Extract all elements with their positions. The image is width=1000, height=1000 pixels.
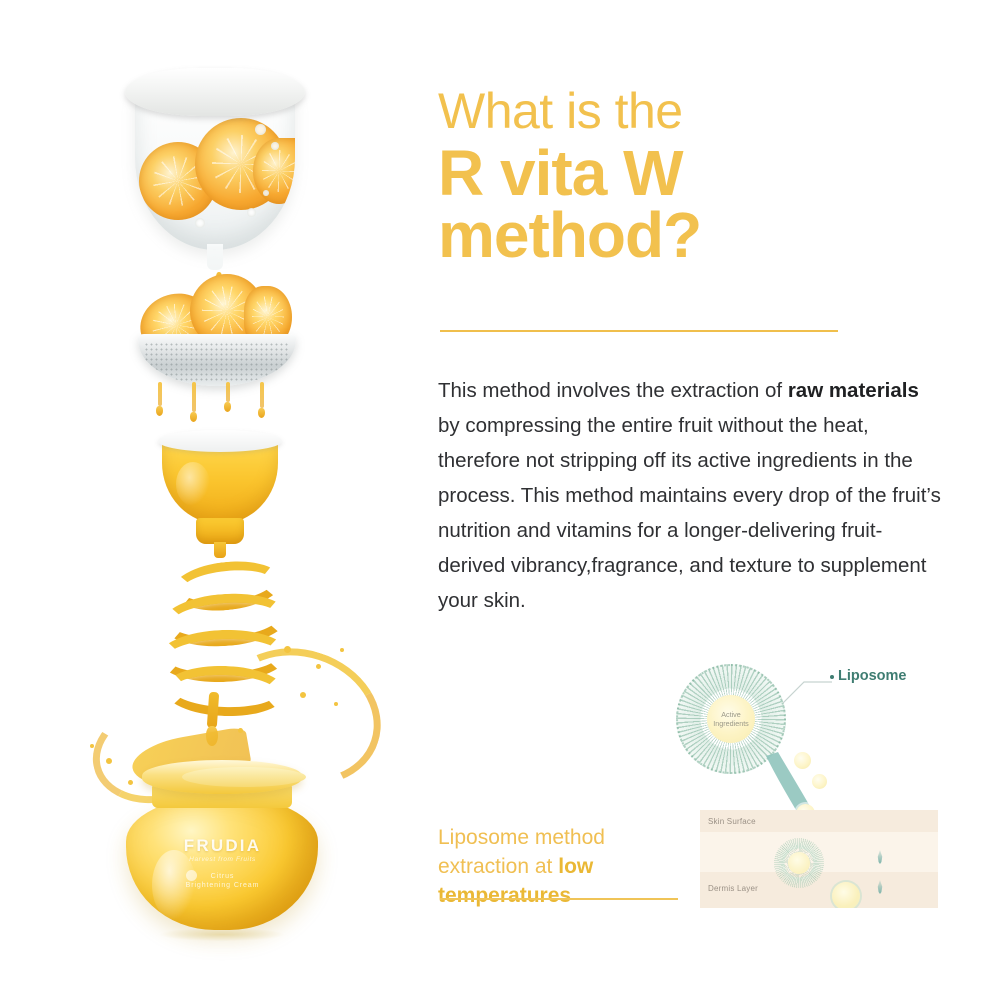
splash-droplet: [284, 646, 291, 653]
splash-droplet: [300, 692, 306, 698]
juice-stream: [158, 382, 162, 406]
juice-drip-icon: [258, 408, 265, 418]
juice-bowl: [162, 440, 278, 524]
juice-stream: [192, 382, 196, 412]
liposome-caption: Liposome method extraction at low temper…: [438, 823, 668, 910]
content-column: What is the R vita W method? This method…: [432, 0, 1000, 1000]
glass-bowl-with-oranges: [125, 68, 305, 268]
splash-droplet: [334, 702, 338, 706]
body-paragraph: This method involves the extraction of r…: [438, 373, 946, 618]
jar-body: [126, 796, 318, 930]
juice-drip-icon: [190, 412, 197, 422]
jar-product-line2: Brightening Cream: [186, 882, 260, 889]
jar-brand-name: FRUDIA: [120, 836, 325, 856]
strainer-drips: [152, 382, 282, 426]
active-ingredient-icon: [832, 882, 860, 908]
skin-surface-label: Skin Surface: [708, 817, 756, 826]
bubble-icon: [195, 218, 205, 228]
headline-line-2: R vita W: [438, 143, 858, 203]
product-jar: FRUDIA Harvest from Fruits Citrus Bright…: [120, 760, 325, 935]
callout-label: Liposome: [838, 668, 906, 684]
juice-bowl-rim: [158, 430, 282, 452]
infographic-page: FRUDIA Harvest from Fruits Citrus Bright…: [0, 0, 1000, 1000]
jar-lid-inner: [182, 767, 306, 787]
body-text-part-2: by compressing the entire fruit without …: [438, 414, 941, 612]
callout-dot-icon: [830, 675, 834, 679]
funnel: [196, 518, 244, 544]
vesicle-icon: [812, 774, 827, 789]
bowl-spout: [207, 244, 223, 270]
jar-product-line1: Citrus: [211, 873, 235, 880]
jar-tagline: Harvest from Fruits: [120, 856, 325, 863]
splash-droplet: [238, 728, 243, 733]
funnel-neck: [214, 542, 226, 558]
headline-line-3: method?: [438, 205, 858, 265]
headline-line-1: What is the: [438, 88, 858, 135]
bowl-highlight: [176, 462, 210, 506]
strainer-mesh: [144, 342, 290, 382]
metal-strainer: [138, 334, 296, 386]
core-label-line2: Ingredients: [713, 719, 749, 728]
page-title: What is the R vita W method?: [438, 88, 858, 265]
body-text-part-1: This method involves the extraction of: [438, 379, 788, 402]
splash-droplet: [90, 744, 94, 748]
splash-droplet: [316, 664, 321, 669]
liposome-core-label: Active Ingredients: [713, 710, 749, 728]
splash-droplet: [340, 648, 344, 652]
skin-layers-panel: Skin Surface Dermis Layer: [700, 810, 938, 908]
juice-drip-icon: [224, 402, 231, 412]
bubble-icon: [271, 142, 279, 150]
juice-stream: [260, 382, 264, 408]
bubble-icon: [255, 124, 266, 135]
caption-divider: [440, 898, 678, 900]
bubble-icon: [247, 208, 256, 217]
liposome-diagram: Active Ingredients Liposome: [660, 642, 1000, 932]
vesicle-icon: [794, 752, 811, 769]
callout-leader-line-icon: [782, 678, 832, 704]
glass-bowl-rim: [125, 68, 305, 116]
jar-product-name: Citrus Brightening Cream: [120, 872, 325, 890]
bubble-icon: [263, 190, 269, 196]
jar-lid: [142, 760, 302, 794]
strainer-with-orange-halves: [138, 272, 296, 422]
dermis-layer-label: Dermis Layer: [708, 884, 758, 893]
liposome-core: Active Ingredients: [707, 695, 755, 743]
juice-bowl-funnel: [158, 430, 282, 560]
core-label-line1: Active: [721, 710, 741, 719]
title-divider: [440, 330, 838, 332]
liposome-in-skin-core: [788, 852, 810, 874]
juice-stream: [226, 382, 230, 402]
body-text-emphasis: raw materials: [788, 379, 919, 402]
splash-droplet: [106, 758, 112, 764]
juice-drip-icon: [156, 406, 163, 416]
product-process-illustration: FRUDIA Harvest from Fruits Citrus Bright…: [0, 0, 420, 1000]
